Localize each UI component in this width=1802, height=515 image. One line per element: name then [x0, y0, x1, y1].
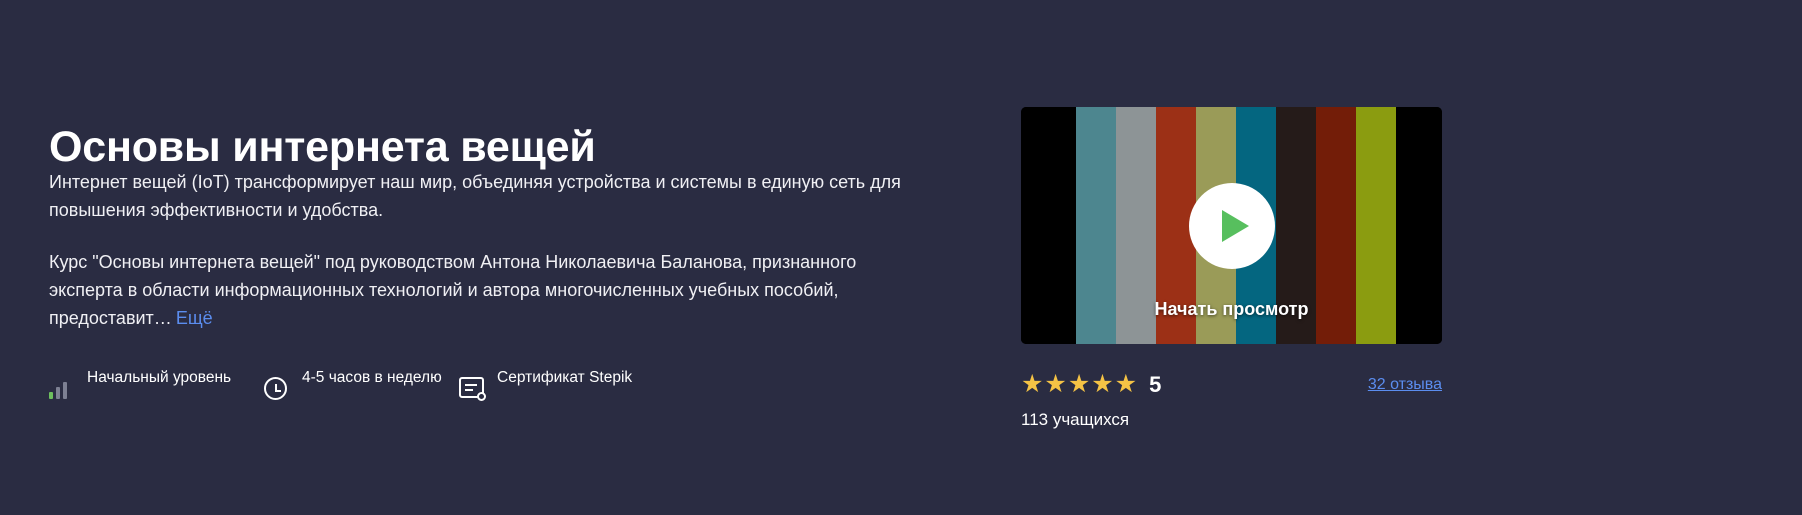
- description-paragraph-2-text: Курс "Основы интернета вещей" под руково…: [49, 252, 856, 328]
- star-icon: ★★★★★: [1021, 372, 1138, 397]
- course-description: Интернет вещей (IoT) трансформирует наш …: [49, 168, 929, 332]
- play-icon: [1222, 210, 1249, 242]
- certificate-icon: [459, 372, 485, 398]
- page-title: Основы интернета вещей: [49, 121, 596, 173]
- description-paragraph-2: Курс "Основы интернета вещей" под руково…: [49, 248, 929, 332]
- meta-item-level-label: Начальный уровень: [87, 368, 231, 388]
- rating-stars-group: ★★★★★ 5: [1021, 372, 1161, 397]
- show-more-link[interactable]: Ещё: [176, 308, 213, 328]
- meta-item-level: Начальный уровень: [49, 368, 264, 398]
- rating-value: 5: [1149, 374, 1161, 396]
- rating-row: ★★★★★ 5 32 отзыва: [1021, 372, 1442, 397]
- play-button[interactable]: [1189, 183, 1275, 269]
- learners-count: 113 учащихся: [1021, 410, 1129, 430]
- course-promo-video[interactable]: Начать просмотр: [1021, 107, 1442, 344]
- meta-item-certificate: Сертификат Stepik: [459, 368, 689, 398]
- start-watching-label: Начать просмотр: [1021, 299, 1442, 320]
- course-meta-row: Начальный уровень 4-5 часов в неделю Сер…: [49, 368, 689, 398]
- meta-item-certificate-label: Сертификат Stepik: [497, 368, 632, 388]
- description-paragraph-1: Интернет вещей (IoT) трансформирует наш …: [49, 168, 929, 224]
- course-hero-page: Основы интернета вещей Интернет вещей (I…: [0, 0, 1802, 515]
- level-bars-icon: [49, 372, 75, 398]
- reviews-link[interactable]: 32 отзыва: [1368, 376, 1442, 394]
- meta-item-workload: 4-5 часов в неделю: [264, 368, 459, 398]
- meta-item-workload-label: 4-5 часов в неделю: [302, 368, 442, 388]
- clock-icon: [264, 372, 290, 398]
